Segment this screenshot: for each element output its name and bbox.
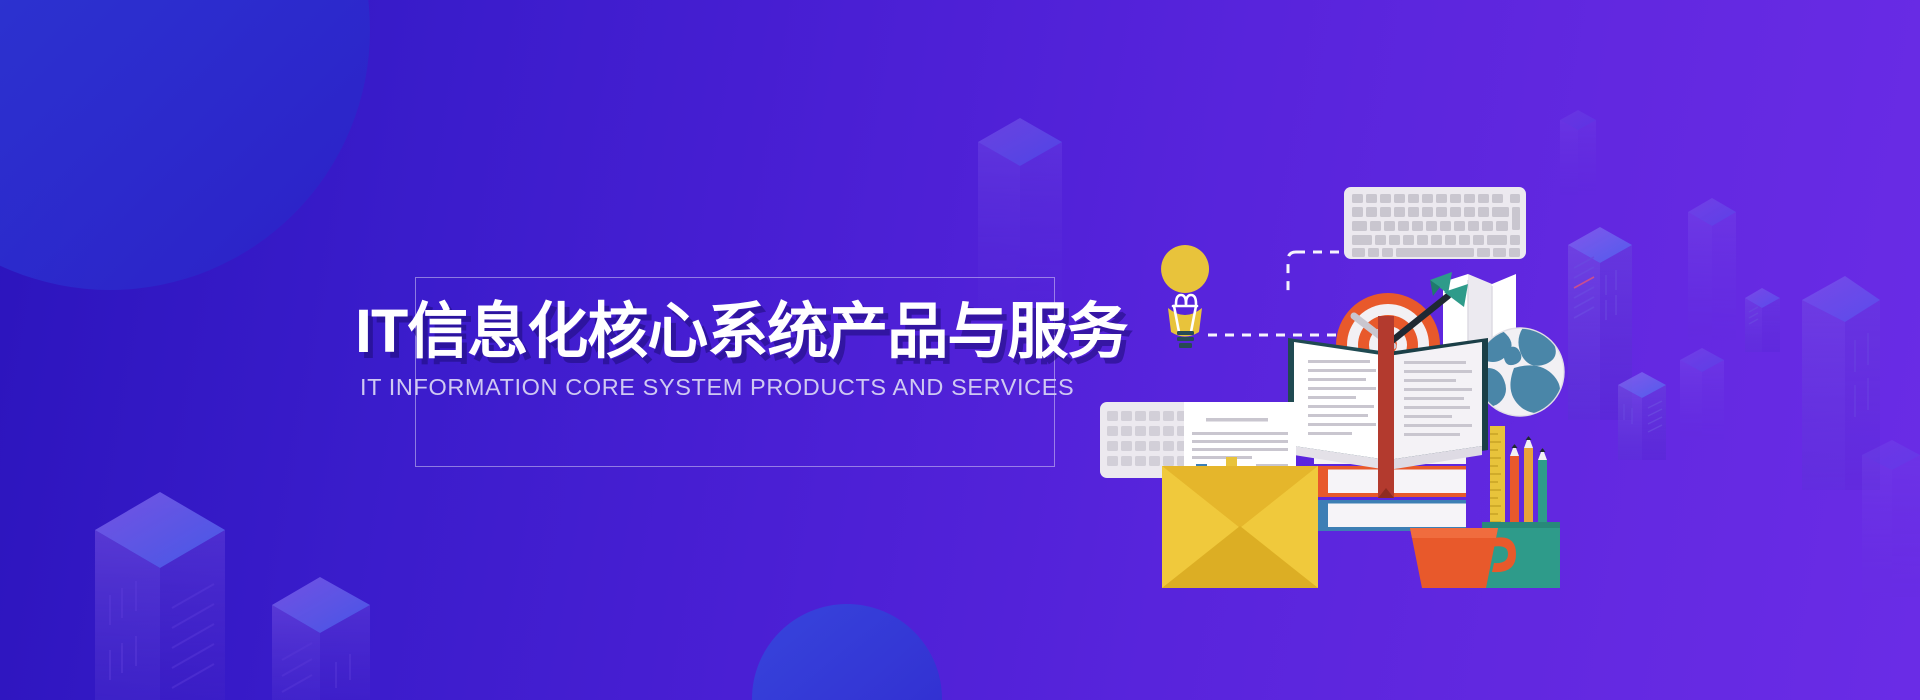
isometric-building: [95, 492, 225, 700]
illustration-svg: [1100, 130, 1570, 590]
isometric-building: [1688, 198, 1736, 340]
isometric-building: [272, 577, 370, 700]
lightbulb-icon: [1161, 245, 1209, 348]
envelope-icon: [1162, 466, 1318, 588]
hero-illustration: [1100, 130, 1570, 590]
isometric-building: [1618, 372, 1666, 460]
page-title: IT信息化核心系统产品与服务: [355, 299, 1115, 363]
hero-text-block: IT信息化核心系统产品与服务 IT INFORMATION CORE SYSTE…: [415, 277, 1055, 467]
isometric-building: [1862, 440, 1920, 600]
hero-banner: IT信息化核心系统产品与服务 IT INFORMATION CORE SYSTE…: [0, 0, 1920, 700]
keyboard-large-icon: [1344, 187, 1526, 259]
isometric-building: [1745, 288, 1780, 352]
page-subtitle: IT INFORMATION CORE SYSTEM PRODUCTS AND …: [360, 374, 1120, 401]
isometric-building: [1680, 348, 1724, 440]
